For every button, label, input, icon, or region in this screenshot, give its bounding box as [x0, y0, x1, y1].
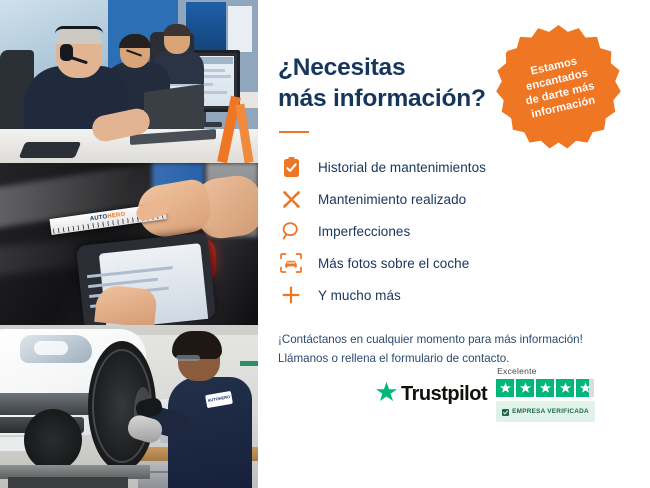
contact-text: ¡Contáctanos en cualquier momento para m…: [278, 330, 650, 368]
headline-line-2: más información?: [278, 85, 486, 112]
feature-list: Historial de mantenimientos M: [278, 151, 650, 311]
trustpilot-wordmark: Trustpilot: [401, 383, 487, 406]
status-badge: Estamos encantados de darte más informac…: [495, 23, 622, 150]
headline-line-1: ¿Necesitas: [278, 54, 405, 81]
magnifier-icon: [278, 218, 304, 244]
verified-badge: EMPRESA VERIFICADA: [496, 401, 595, 422]
star-filled: [556, 379, 574, 397]
list-item: Mantenimiento realizado: [278, 183, 650, 215]
list-item-label: Y mucho más: [318, 288, 401, 303]
promo-card: AUTOHERO: [0, 0, 650, 488]
car-inspection-ruler-photo: AUTOHERO: [0, 163, 258, 325]
star-partial: [576, 379, 594, 397]
list-item-label: Más fotos sobre el coche: [318, 256, 469, 271]
crossed-tools-icon: [278, 186, 304, 212]
rating-label: Excelente: [497, 366, 537, 376]
verified-check-icon: [502, 403, 509, 421]
plus-icon: [278, 282, 304, 308]
star-filled: [516, 379, 534, 397]
photo-column: AUTOHERO: [0, 0, 258, 488]
contact-line-1: ¡Contáctanos en cualquier momento para m…: [278, 333, 583, 346]
trustpilot-star-icon: [376, 382, 397, 407]
car-focus-frame-icon: [278, 250, 304, 276]
uniform-logo: AUTOHERO: [206, 394, 232, 403]
list-item-label: Imperfecciones: [318, 224, 410, 239]
contact-line-2: Llámanos o rellena el formulario de cont…: [278, 352, 509, 365]
badge-text: Estamos encantados de darte más informac…: [518, 51, 599, 122]
list-item: Y mucho más: [278, 279, 650, 311]
rating-stars: [496, 379, 594, 397]
list-item-label: Historial de mantenimientos: [318, 160, 486, 175]
title-divider: [279, 131, 309, 134]
mechanic-wheel-photo: AUTOHERO: [0, 325, 258, 488]
list-item: Más fotos sobre el coche: [278, 247, 650, 279]
star-filled: [536, 379, 554, 397]
star-filled: [496, 379, 514, 397]
verified-label: EMPRESA VERIFICADA: [512, 408, 589, 415]
list-item-label: Mantenimiento realizado: [318, 192, 466, 207]
clipboard-check-icon: [278, 154, 304, 180]
trustpilot-logo[interactable]: Trustpilot: [376, 382, 487, 407]
trustpilot-widget[interactable]: Trustpilot Excelente: [376, 366, 626, 422]
content-panel: ¿Necesitas más información? Historial de…: [258, 0, 650, 488]
list-item: Imperfecciones: [278, 215, 650, 247]
call-center-agents-photo: [0, 0, 258, 163]
list-item: Historial de mantenimientos: [278, 151, 650, 183]
